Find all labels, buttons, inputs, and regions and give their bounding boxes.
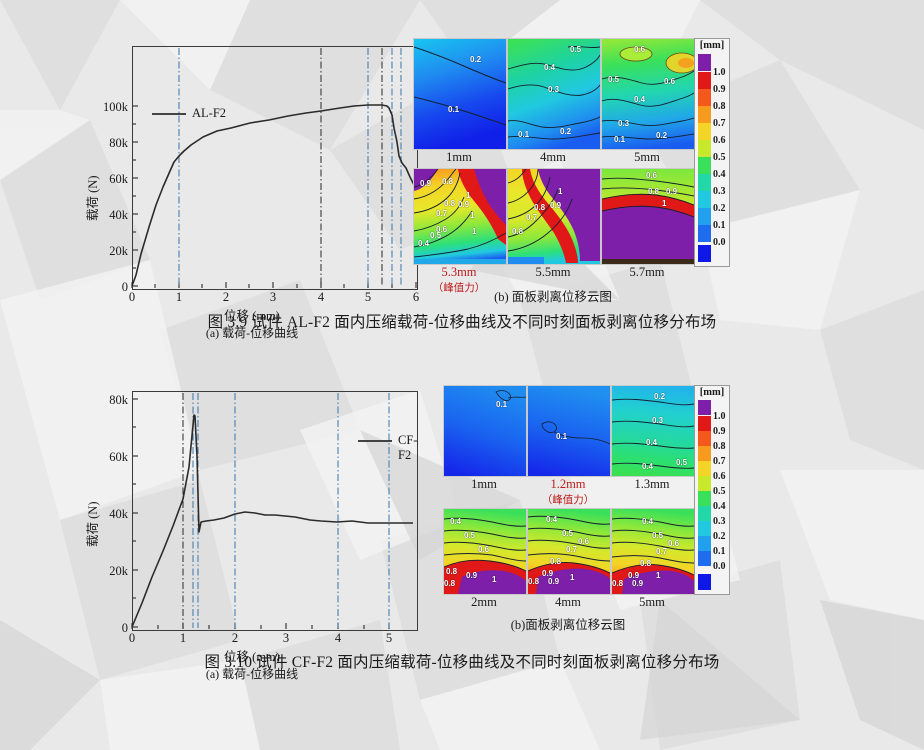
contour-label: 0.6 xyxy=(646,171,657,180)
contour-label: 0.4 xyxy=(634,95,645,104)
contour-row: 0.4 0.5 0.6 0.8 0.9 1 0.8 xyxy=(443,508,695,595)
contour-panel-2mm[interactable]: 0.4 0.5 0.6 0.8 0.9 1 0.8 xyxy=(443,508,527,595)
contour-panel-4mm[interactable]: 0.4 0.5 0.6 0.7 0.8 0.9 1 0.8 0.9 xyxy=(527,508,611,595)
colorbar-segment xyxy=(698,157,711,174)
contour-label: 0.9 xyxy=(466,571,477,580)
contour-label: 0.2 xyxy=(654,392,665,401)
contour-label: 0.5 xyxy=(464,531,475,540)
colorbar-tick: 0.2 xyxy=(713,531,726,542)
legend-label: AL-F2 xyxy=(192,106,226,121)
figure-3-10: 80k 60k 40k 20k 0 载荷 (N) xyxy=(0,365,924,685)
colorbar-f310: [mm] 1.0 0.9 0.8 0.7 0.6 0.5 0.4 xyxy=(694,385,730,595)
colorbar-tick: 0.5 xyxy=(713,486,726,497)
colorbar-segment xyxy=(698,225,711,242)
x-tick: 2 xyxy=(216,290,236,305)
contour-label: 0.9 xyxy=(550,201,561,210)
contour-label: 1 xyxy=(492,575,496,584)
colorbar-segment xyxy=(698,416,711,431)
colorbar-tick: 0.0 xyxy=(713,561,726,572)
chart-legend: CF-F2 xyxy=(398,433,428,463)
contour-title-4mm: 4mm xyxy=(527,595,609,610)
contour-label: 0.1 xyxy=(556,432,567,441)
colorbar-segment xyxy=(698,140,711,157)
contour-label: 0.6 xyxy=(634,45,645,54)
colorbar-tick: 0.7 xyxy=(713,118,726,129)
colorbar-tick: 0.4 xyxy=(713,501,726,512)
colorbar-segment xyxy=(698,208,711,225)
colorbar-segment xyxy=(698,476,711,491)
contour-title-5mm: 5mm xyxy=(611,595,693,610)
colorbar-tick: 1.0 xyxy=(713,411,726,422)
colorbar-segment xyxy=(698,191,711,208)
contour-label: 0.9 xyxy=(666,187,677,196)
contour-panel-4mm[interactable]: 0.5 0.4 0.3 0.1 0.2 xyxy=(507,38,601,150)
contour-label: 0.8 xyxy=(446,567,457,576)
colorbar-tick: 0.1 xyxy=(713,220,726,231)
contour-label: 0.8 xyxy=(444,579,455,588)
contour-panel-1-3mm[interactable]: 0.2 0.3 0.4 0.4 0.5 xyxy=(611,385,695,477)
contour-title-2mm: 2mm xyxy=(443,595,525,610)
contour-panel-5-7mm[interactable]: 0.6 0.8 0.9 1 xyxy=(601,168,695,265)
colorbar-segment xyxy=(698,89,711,106)
contour-panel-1mm[interactable]: 0.1 xyxy=(443,385,527,477)
contour-label: 1 xyxy=(570,573,574,582)
colorbar-segment xyxy=(698,461,711,476)
x-tick: 5 xyxy=(358,290,378,305)
colorbar-strip xyxy=(698,54,711,262)
colorbar-f39: [mm] 1.0 0.9 0.8 0.7 0.6 0.5 0.4 xyxy=(694,38,730,267)
contour-label: 0.5 xyxy=(652,531,663,540)
x-tick: 2 xyxy=(225,631,245,646)
contour-label: 0.5 xyxy=(430,231,441,240)
colorbar-segment xyxy=(698,174,711,191)
contour-title-4mm: 4mm xyxy=(507,150,599,165)
colorbar-segment xyxy=(698,491,711,506)
colorbar-segment-under xyxy=(698,574,711,590)
chart-legend: AL-F2 xyxy=(192,106,226,121)
contour-label: 0.7 xyxy=(526,213,537,222)
contour-title-1mm: 1mm xyxy=(413,150,505,165)
contour-label: 0.7 xyxy=(566,545,577,554)
contour-label: 0.3 xyxy=(548,85,559,94)
contour-panel-5mm[interactable]: 0.6 0.5 0.6 0.4 0.3 0.2 0.1 xyxy=(601,38,695,150)
contour-panel-5-5mm[interactable]: 1 0.9 0.8 0.7 0.8 xyxy=(507,168,601,265)
contour-label: 0.1 xyxy=(518,130,529,139)
contour-label: 0.9 xyxy=(458,200,469,209)
contour-label: 0.7 xyxy=(656,547,667,556)
colorbar-unit: [mm] xyxy=(695,387,729,398)
contour-title-5mm: 5mm xyxy=(601,150,693,165)
colorbar-tick: 0.8 xyxy=(713,101,726,112)
contour-row: 0.9 0.8 1 0.8 0.9 0.7 1 0.6 1 0.5 0.4 xyxy=(413,168,695,265)
colorbar-tick: 0.0 xyxy=(713,237,726,248)
peak-force-note: （峰值力） xyxy=(527,492,609,507)
colorbar-tick: 0.1 xyxy=(713,546,726,557)
colorbar-segment xyxy=(698,536,711,551)
contour-label: 0.8 xyxy=(528,577,539,586)
colorbar-tick: 0.3 xyxy=(713,186,726,197)
contour-label: 0.5 xyxy=(570,45,581,54)
contour-label: 0.4 xyxy=(418,239,429,248)
colorbar-segment xyxy=(698,106,711,123)
contour-label: 0.3 xyxy=(618,119,629,128)
contour-label: 0.3 xyxy=(652,416,663,425)
contour-label: 0.4 xyxy=(642,517,653,526)
contour-panel-5mm[interactable]: 0.4 0.5 0.6 0.7 0.8 0.9 1 0.8 0.9 xyxy=(611,508,695,595)
contour-label: 0.6 xyxy=(668,539,679,548)
cloud-subcaption: (b) 面板剥离位移云图 xyxy=(413,286,693,305)
contour-label: 0.8 xyxy=(648,187,659,196)
colorbar-tick: 1.0 xyxy=(713,67,726,78)
contour-title-1-2mm: 1.2mm （峰值力） xyxy=(527,477,609,507)
colorbar-tick: 0.6 xyxy=(713,471,726,482)
contour-label: 1 xyxy=(470,211,474,220)
document-page: 100k 80k 60k 40k 20k 0 载荷 (N) xyxy=(0,0,924,750)
x-tick: 4 xyxy=(328,631,348,646)
contour-label: 1 xyxy=(558,187,562,196)
contour-title-5-7mm: 5.7mm xyxy=(601,265,693,280)
contour-label: 0.2 xyxy=(470,55,481,64)
cloud-subcaption: (b)面板剥离位移云图 xyxy=(443,614,693,633)
contour-title-text: 5.3mm xyxy=(441,265,476,279)
contour-label: 0.4 xyxy=(450,517,461,526)
contour-label: 0.9 xyxy=(548,577,559,586)
contour-label: 0.8 xyxy=(534,203,545,212)
figure-3-9: 100k 80k 60k 40k 20k 0 载荷 (N) xyxy=(0,0,924,345)
x-tick: 3 xyxy=(276,631,296,646)
colorbar-tick: 0.2 xyxy=(713,203,726,214)
x-tick: 0 xyxy=(122,631,142,646)
colorbar-segment xyxy=(698,506,711,521)
contour-label: 0.2 xyxy=(656,131,667,140)
colorbar-strip xyxy=(698,400,711,590)
colorbar-segment xyxy=(698,551,711,566)
colorbar-segment-over xyxy=(698,400,711,415)
contour-title-5-5mm: 5.5mm xyxy=(507,265,599,280)
x-tick: 4 xyxy=(311,290,331,305)
colorbar-segment xyxy=(698,431,711,446)
colorbar-segment-under xyxy=(698,245,711,262)
contour-panel-1mm[interactable]: 0.2 0.1 xyxy=(413,38,507,150)
contour-label: 1 xyxy=(662,199,666,208)
contour-title-text: 1.2mm xyxy=(550,477,585,491)
colorbar-tick: 0.8 xyxy=(713,441,726,452)
contour-row: 0.1 xyxy=(443,385,695,477)
colorbar-segment xyxy=(698,446,711,461)
contour-label: 0.6 xyxy=(578,537,589,546)
figure-caption-3-9: 图 3.9 试件 AL-F2 面内压缩载荷-位移曲线及不同时刻面板剥离位移分布场 xyxy=(0,310,924,332)
contour-title-1-3mm: 1.3mm xyxy=(611,477,693,492)
colorbar-segment xyxy=(698,72,711,89)
contour-label: 1 xyxy=(656,571,660,580)
contour-label: 0.6 xyxy=(478,545,489,554)
x-tick: 0 xyxy=(122,290,142,305)
contour-label: 0.4 xyxy=(642,462,653,471)
contour-panel-1-2mm[interactable]: 0.1 xyxy=(527,385,611,477)
colorbar-tick: 0.4 xyxy=(713,169,726,180)
contour-label: 0.8 xyxy=(612,579,623,588)
contour-label: 0.4 xyxy=(646,438,657,447)
contour-label: 0.8 xyxy=(640,559,651,568)
contour-label: 0.8 xyxy=(442,177,453,186)
colorbar-tick: 0.5 xyxy=(713,152,726,163)
contour-panel-5-3mm[interactable]: 0.9 0.8 1 0.8 0.9 0.7 1 0.6 1 0.5 0.4 xyxy=(413,168,507,265)
colorbar-segment-over xyxy=(698,54,711,71)
contour-row: 0.2 0.1 xyxy=(413,38,695,150)
x-tick: 5 xyxy=(379,631,399,646)
contour-label: 0.9 xyxy=(632,579,643,588)
chart-cf-f2: 80k 60k 40k 20k 0 载荷 (N) xyxy=(88,377,428,642)
contour-label: 0.4 xyxy=(546,515,557,524)
contour-label: 1 xyxy=(466,191,470,200)
x-tick: 3 xyxy=(263,290,283,305)
contour-label: 0.4 xyxy=(544,63,555,72)
contour-label: 0.8 xyxy=(550,557,561,566)
contour-label: 1 xyxy=(472,227,476,236)
contour-label: 0.5 xyxy=(676,458,687,467)
chart-al-f2: 100k 80k 60k 40k 20k 0 载荷 (N) xyxy=(88,36,428,301)
contour-label: 0.1 xyxy=(448,105,459,114)
colorbar-segment xyxy=(698,123,711,140)
contour-label: 0.6 xyxy=(664,77,675,86)
figure-caption-3-10: 图 3.10 试件 CF-F2 面内压缩载荷-位移曲线及不同时刻面板剥离位移分布… xyxy=(0,650,924,672)
colorbar-tick: 0.3 xyxy=(713,516,726,527)
contour-label: 0.5 xyxy=(608,75,619,84)
colorbar-unit: [mm] xyxy=(695,40,729,51)
contour-title-1mm: 1mm xyxy=(443,477,525,492)
plot-canvas xyxy=(88,36,428,301)
contour-label: 0.7 xyxy=(436,209,447,218)
x-tick: 1 xyxy=(173,631,193,646)
colorbar-tick: 0.6 xyxy=(713,135,726,146)
colorbar-tick: 0.9 xyxy=(713,426,726,437)
contour-label: 0.8 xyxy=(512,227,523,236)
colorbar-segment xyxy=(698,521,711,536)
legend-label: CF-F2 xyxy=(398,433,428,463)
x-tick: 1 xyxy=(169,290,189,305)
plot-canvas xyxy=(88,377,428,642)
contour-label: 0.2 xyxy=(560,127,571,136)
colorbar-tick: 0.7 xyxy=(713,456,726,467)
contour-label: 0.9 xyxy=(420,179,431,188)
contour-label: 0.8 xyxy=(444,199,455,208)
contour-label: 0.5 xyxy=(562,529,573,538)
contour-label: 0.1 xyxy=(614,135,625,144)
colorbar-tick: 0.9 xyxy=(713,84,726,95)
contour-label: 0.1 xyxy=(496,400,507,409)
